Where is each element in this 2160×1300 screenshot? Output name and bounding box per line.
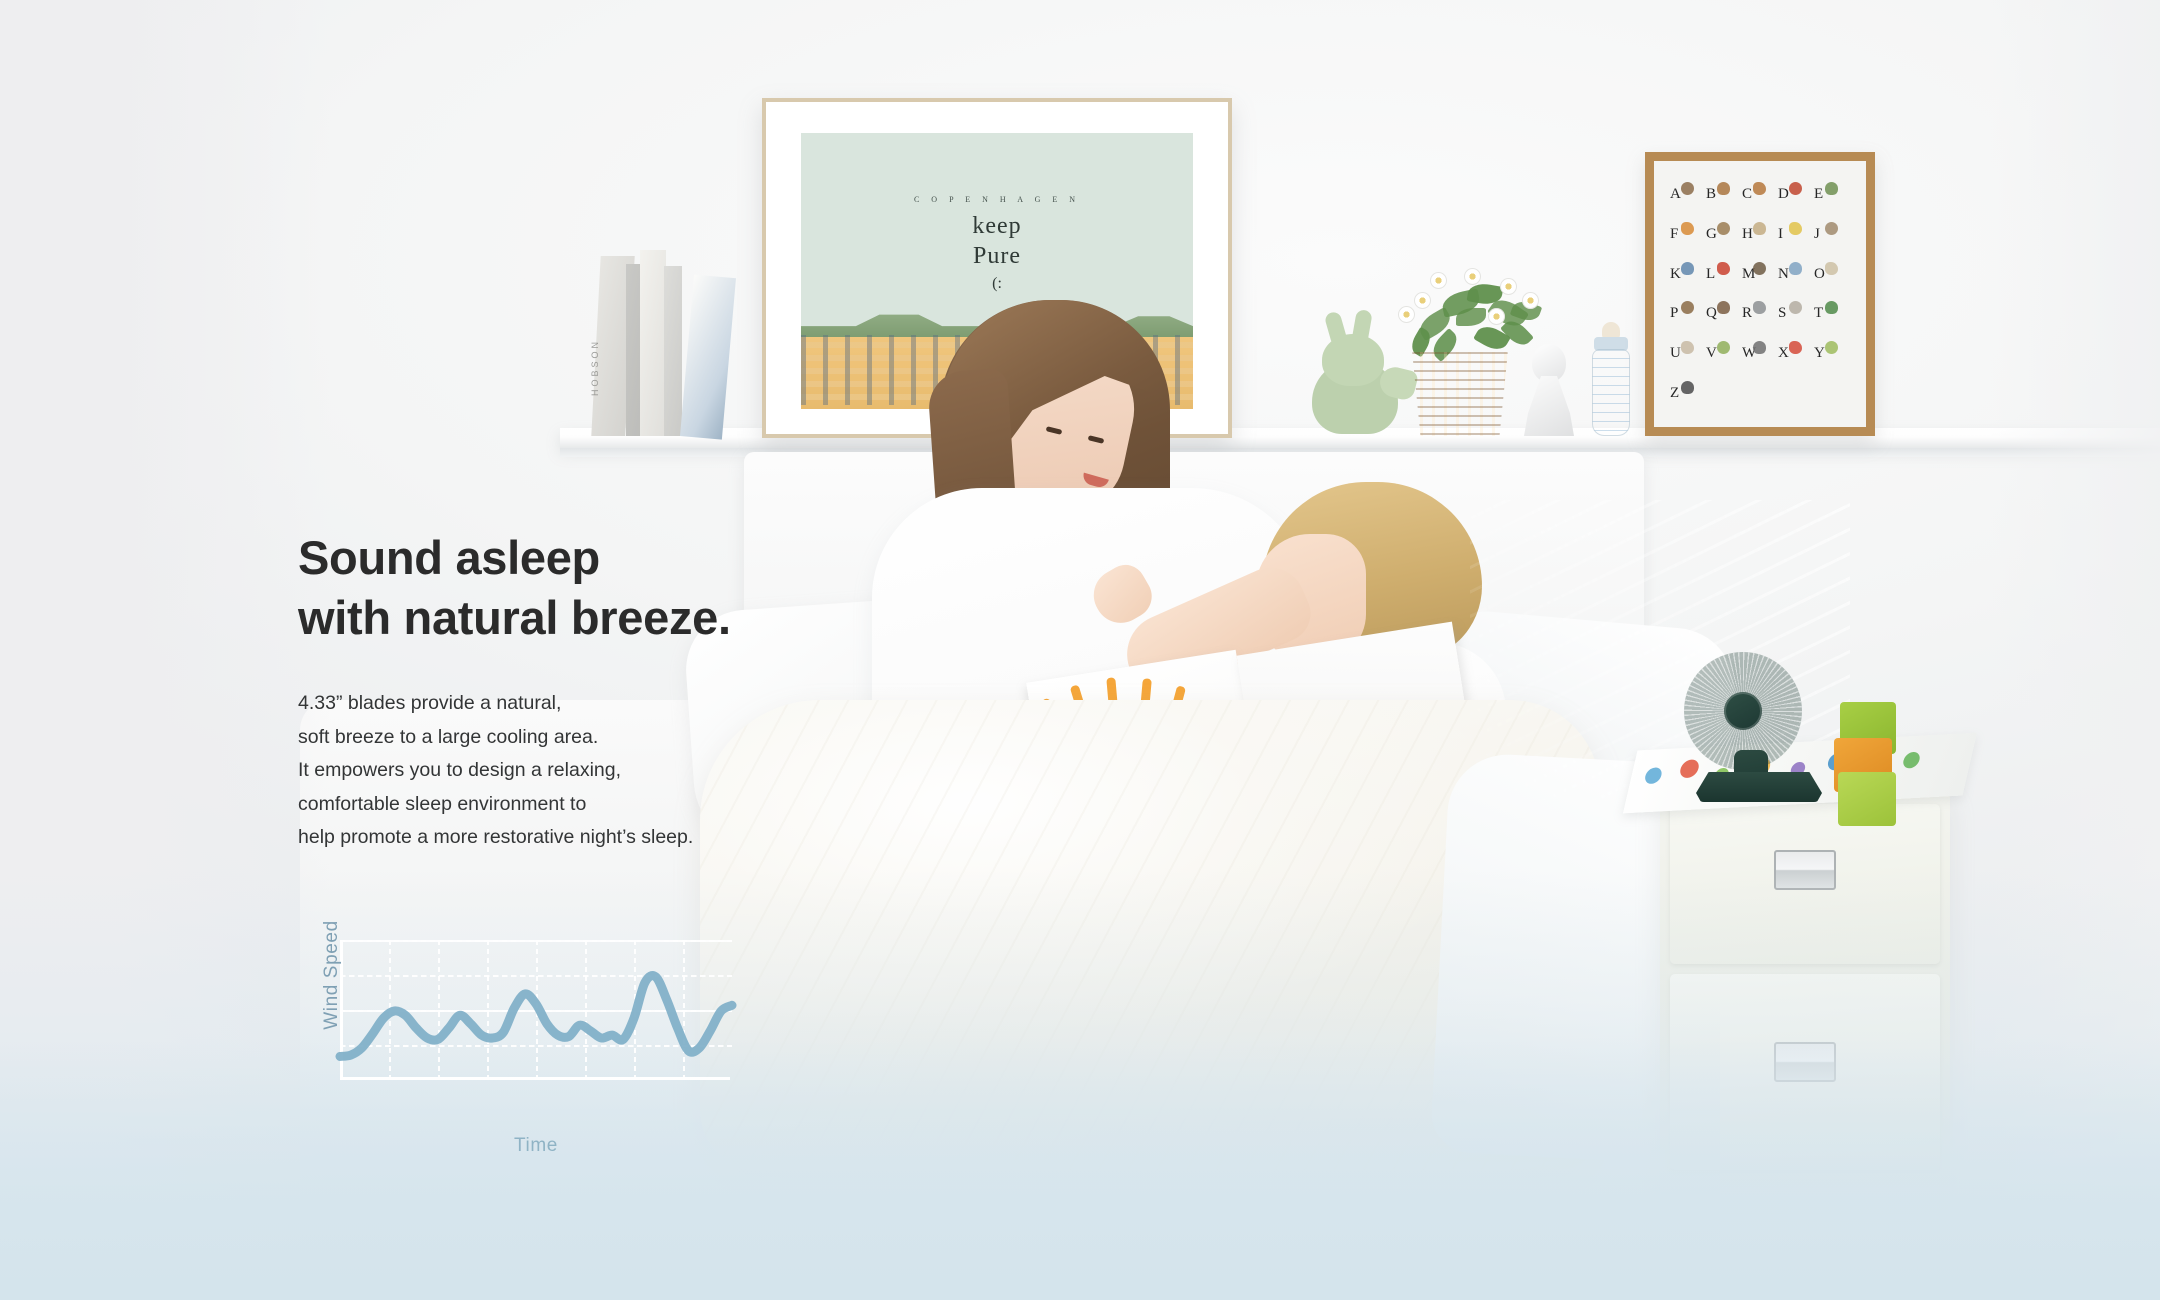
plaster-bust-statue	[1520, 344, 1578, 436]
alphabet-cell-f: F	[1670, 227, 1678, 242]
alphabet-cell-l: L	[1706, 267, 1715, 282]
daisy-bloom	[1414, 292, 1431, 309]
alphabet-cell-s: S	[1778, 306, 1786, 321]
alphabet-animal-icon	[1753, 341, 1766, 354]
alphabet-cell-y: Y	[1814, 346, 1825, 361]
alphabet-animal-icon	[1789, 341, 1802, 354]
alphabet-animal-icon	[1825, 301, 1838, 314]
poster-arc-text: C O P E N H A G E N	[801, 195, 1193, 204]
shelf-books: HOBSON	[596, 240, 726, 436]
alphabet-animal-icon	[1825, 182, 1838, 195]
alphabet-animal-icon	[1717, 182, 1730, 195]
alphabet-animal-icon	[1753, 301, 1766, 314]
alphabet-cell-n: N	[1778, 267, 1789, 282]
alphabet-cell-i: I	[1778, 227, 1783, 242]
fan-hub	[1724, 692, 1762, 730]
alphabet-cell-b: B	[1706, 187, 1716, 202]
daisy-bloom	[1488, 308, 1505, 325]
product-hero-banner: HOBSON C O P E N H A G E N keep Pure (:	[0, 0, 2160, 1300]
alphabet-animal-icon	[1789, 262, 1802, 275]
alphabet-animal-icon	[1825, 341, 1838, 354]
alphabet-cell-k: K	[1670, 267, 1681, 282]
page-title: Sound asleep with natural breeze.	[298, 528, 918, 648]
alphabet-cell-t: T	[1814, 306, 1823, 321]
daisy-bloom	[1398, 306, 1415, 323]
alphabet-cell-e: E	[1814, 187, 1823, 202]
body-line-1: 4.33” blades provide a natural,	[298, 687, 918, 721]
baby-bottle	[1588, 322, 1634, 436]
alphabet-animal-icon	[1717, 341, 1730, 354]
alphabet-cell-w: W	[1742, 346, 1756, 361]
alphabet-cell-o: O	[1814, 267, 1825, 282]
marketing-copy-block: Sound asleep with natural breeze. 4.33” …	[298, 528, 918, 855]
wind-speed-chart: Wind Speed Time	[296, 930, 776, 1190]
poster-line-pure: Pure	[801, 243, 1193, 270]
framed-alphabet-poster: ABCDEFGHIJKLMNOPQRSTUVWXYZ	[1645, 152, 1875, 436]
alphabet-animal-icon	[1717, 301, 1730, 314]
body-line-4: comfortable sleep environment to	[298, 788, 918, 822]
alphabet-cell-x: X	[1778, 346, 1789, 361]
alphabet-animal-icon	[1753, 222, 1766, 235]
alphabet-animal-icon	[1753, 262, 1766, 275]
alphabet-cell-h: H	[1742, 227, 1753, 242]
poster-line-keep: keep	[801, 213, 1193, 240]
alphabet-animal-icon	[1681, 262, 1694, 275]
alphabet-animal-icon	[1825, 222, 1838, 235]
alphabet-animal-icon	[1681, 182, 1694, 195]
daisy-bloom	[1430, 272, 1447, 289]
clip-on-circulator-fan[interactable]	[1676, 652, 1846, 802]
alphabet-cell-g: G	[1706, 227, 1717, 242]
alphabet-animal-icon	[1681, 222, 1694, 235]
alphabet-animal-icon	[1717, 222, 1730, 235]
alphabet-cell-d: D	[1778, 187, 1789, 202]
alphabet-animal-icon	[1681, 381, 1694, 394]
plant-leaf	[1456, 308, 1486, 326]
alphabet-cell-p: P	[1670, 306, 1678, 321]
headline-line-1: Sound asleep	[298, 528, 918, 588]
alphabet-cell-q: Q	[1706, 306, 1717, 321]
alphabet-animal-icon	[1789, 182, 1802, 195]
wicker-basket-planter	[1408, 352, 1512, 436]
alphabet-animal-icon	[1753, 182, 1766, 195]
book-spine-label: HOBSON	[590, 256, 600, 396]
chart-x-axis-label: Time	[340, 1135, 732, 1157]
headline-line-2: with natural breeze.	[298, 588, 918, 648]
alphabet-cell-z: Z	[1670, 386, 1679, 401]
alphabet-cell-u: U	[1670, 346, 1681, 361]
poster-smiley-glyph: (:	[801, 275, 1193, 293]
alphabet-animal-icon	[1681, 341, 1694, 354]
alphabet-animal-icon	[1789, 301, 1802, 314]
daisy-bloom	[1464, 268, 1481, 285]
wooden-block-green-bottom	[1838, 772, 1896, 826]
alphabet-cell-a: A	[1670, 187, 1681, 202]
body-line-2: soft breeze to a large cooling area.	[298, 721, 918, 755]
wind-speed-curve	[340, 940, 732, 1082]
daisy-bloom	[1522, 292, 1539, 309]
body-line-5: help promote a more restorative night’s …	[298, 821, 918, 855]
alphabet-cell-j: J	[1814, 227, 1820, 242]
alphabet-animal-icon	[1717, 262, 1730, 275]
alphabet-cell-r: R	[1742, 306, 1752, 321]
daisy-bloom	[1500, 278, 1517, 295]
body-line-3: It empowers you to design a relaxing,	[298, 754, 918, 788]
alphabet-animal-icon	[1825, 262, 1838, 275]
alphabet-grid: ABCDEFGHIJKLMNOPQRSTUVWXYZ	[1662, 169, 1858, 419]
chart-y-axis-label: Wind Speed	[321, 915, 343, 1035]
alphabet-cell-m: M	[1742, 267, 1755, 282]
alphabet-animal-icon	[1789, 222, 1802, 235]
fan-clip-base	[1696, 772, 1822, 802]
alphabet-animal-icon	[1681, 301, 1694, 314]
body-copy: 4.33” blades provide a natural, soft bre…	[298, 687, 918, 855]
alphabet-cell-v: V	[1706, 346, 1717, 361]
alphabet-cell-c: C	[1742, 187, 1752, 202]
